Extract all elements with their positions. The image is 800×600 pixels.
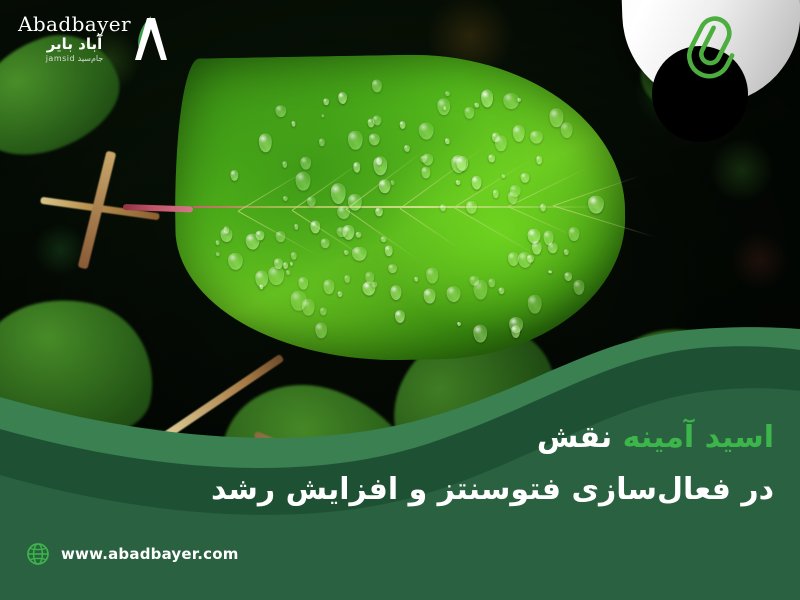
water-droplet (368, 118, 375, 127)
headline-block: اسید آمینه نقش در فعال‌سازی فتوسنتز و اف… (74, 419, 774, 508)
promo-banner: Abadbayer آباد بایر جام‌سید jamsid اسید … (0, 0, 800, 600)
water-droplet (517, 98, 521, 102)
water-droplet (445, 91, 450, 96)
water-droplet (260, 284, 264, 289)
water-droplet (355, 232, 361, 238)
water-droplet (564, 249, 569, 255)
water-droplet (268, 266, 284, 285)
logo-persian-name: آباد بایر (18, 37, 131, 52)
water-droplet (246, 233, 260, 249)
water-droplet (508, 191, 518, 204)
water-droplet (378, 179, 390, 193)
water-droplet (481, 90, 494, 108)
headline-line-2: در فعال‌سازی فتوسنتز و افزایش رشد (74, 471, 774, 509)
water-droplet (475, 102, 480, 108)
water-droplet (286, 270, 289, 275)
logo-subtitle: جام‌سید jamsid (18, 55, 131, 63)
headline-accent-text: اسید آمینه (623, 420, 774, 455)
water-droplet (495, 135, 507, 151)
water-droplet (492, 190, 498, 199)
water-droplet (457, 156, 468, 171)
water-droplet (445, 138, 449, 143)
water-droplet (418, 122, 433, 139)
water-droplet (375, 207, 383, 216)
water-droplet (470, 276, 479, 286)
headline-line-1: اسید آمینه نقش (74, 419, 774, 457)
water-droplet (290, 251, 296, 259)
logo-latin-name: Abadbayer (18, 14, 131, 34)
water-droplet (294, 224, 298, 229)
water-droplet (424, 289, 436, 304)
water-droplet (385, 246, 393, 257)
website-footer[interactable]: www.abadbayer.com (26, 542, 239, 566)
water-droplet (259, 134, 272, 152)
water-droplet (503, 93, 519, 109)
water-droplet (446, 286, 460, 302)
water-droplet (338, 92, 347, 104)
main-leaf-subject (172, 51, 627, 364)
water-droplet (323, 98, 329, 105)
water-droplet (321, 114, 324, 117)
water-droplet (488, 154, 494, 163)
water-droplet (216, 252, 219, 256)
water-droplet (512, 125, 524, 142)
water-droplet (548, 270, 552, 274)
website-url: www.abadbayer.com (61, 545, 239, 563)
leaf-monogram-icon (129, 12, 175, 64)
brand-logo[interactable]: Abadbayer آباد بایر جام‌سید jamsid (18, 12, 175, 64)
logo-wordmark: Abadbayer آباد بایر جام‌سید jamsid (18, 14, 131, 63)
water-droplet (282, 262, 288, 269)
water-droplet (530, 130, 543, 143)
water-droplet (319, 139, 324, 147)
water-droplet (230, 170, 238, 181)
headline-white-text: نقش (537, 420, 612, 455)
water-droplet (344, 275, 350, 284)
globe-icon (26, 542, 50, 566)
water-droplet (320, 307, 327, 315)
water-droplet (295, 172, 310, 191)
water-droplet (276, 231, 286, 242)
